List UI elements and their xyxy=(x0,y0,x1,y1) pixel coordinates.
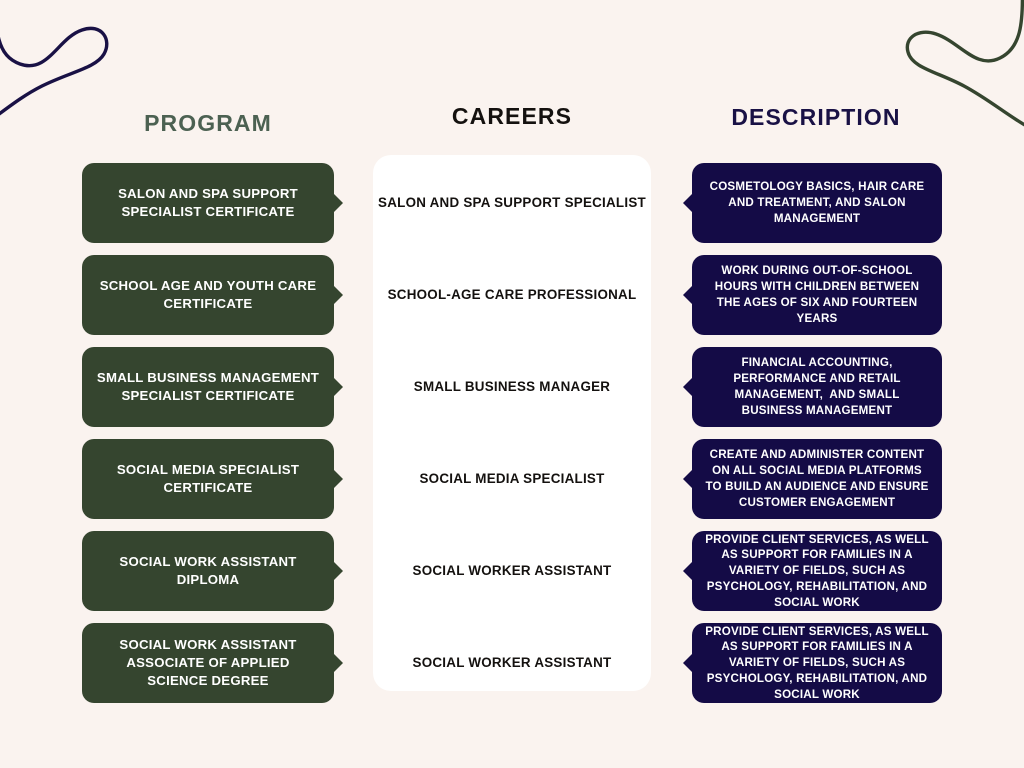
description-card[interactable]: WORK DURING OUT-OF-SCHOOL HOURS WITH CHI… xyxy=(692,255,942,335)
arrow-right-icon xyxy=(334,562,343,580)
career-label-cell: SOCIAL WORKER ASSISTANT xyxy=(376,531,648,611)
arrow-left-icon xyxy=(683,562,692,580)
arrow-right-icon xyxy=(334,194,343,212)
column-header-careers: CAREERS xyxy=(373,103,651,130)
description-card[interactable]: FINANCIAL ACCOUNTING, PERFORMANCE AND RE… xyxy=(692,347,942,427)
table-row: SOCIAL MEDIA SPECIALIST CERTIFICATE SOCI… xyxy=(0,439,1024,519)
arrow-left-icon xyxy=(683,286,692,304)
arrow-right-icon xyxy=(334,286,343,304)
description-card[interactable]: COSMETOLOGY BASICS, HAIR CARE AND TREATM… xyxy=(692,163,942,243)
description-card-label: WORK DURING OUT-OF-SCHOOL HOURS WITH CHI… xyxy=(704,263,930,326)
career-label: SOCIAL WORKER ASSISTANT xyxy=(413,654,612,672)
description-card-label: FINANCIAL ACCOUNTING, PERFORMANCE AND RE… xyxy=(704,355,930,418)
program-card[interactable]: SOCIAL WORK ASSISTANT DIPLOMA xyxy=(82,531,334,611)
description-card[interactable]: PROVIDE CLIENT SERVICES, AS WELL AS SUPP… xyxy=(692,623,942,703)
career-label-cell: SALON AND SPA SUPPORT SPECIALIST xyxy=(376,163,648,243)
description-card[interactable]: PROVIDE CLIENT SERVICES, AS WELL AS SUPP… xyxy=(692,531,942,611)
description-card-label: PROVIDE CLIENT SERVICES, AS WELL AS SUPP… xyxy=(704,624,930,703)
description-card-label: COSMETOLOGY BASICS, HAIR CARE AND TREATM… xyxy=(704,179,930,226)
program-card[interactable]: SALON AND SPA SUPPORT SPECIALIST CERTIFI… xyxy=(82,163,334,243)
program-card-label: SOCIAL WORK ASSISTANT DIPLOMA xyxy=(96,553,320,589)
column-headers: PROGRAM CAREERS DESCRIPTION xyxy=(0,0,1024,155)
program-card-label: SMALL BUSINESS MANAGEMENT SPECIALIST CER… xyxy=(96,369,320,405)
program-card-label: SOCIAL MEDIA SPECIALIST CERTIFICATE xyxy=(96,461,320,497)
career-label: SMALL BUSINESS MANAGER xyxy=(414,378,610,396)
table-row: SOCIAL WORK ASSISTANT DIPLOMA SOCIAL WOR… xyxy=(0,531,1024,611)
career-label-cell: SCHOOL-AGE CARE PROFESSIONAL xyxy=(376,255,648,335)
career-label-cell: SOCIAL MEDIA SPECIALIST xyxy=(376,439,648,519)
career-label: SOCIAL WORKER ASSISTANT xyxy=(413,562,612,580)
career-label: SOCIAL MEDIA SPECIALIST xyxy=(419,470,604,488)
description-card-label: CREATE AND ADMINISTER CONTENT ON ALL SOC… xyxy=(704,447,930,510)
column-header-description: DESCRIPTION xyxy=(690,104,942,131)
arrow-left-icon xyxy=(683,378,692,396)
description-card-label: PROVIDE CLIENT SERVICES, AS WELL AS SUPP… xyxy=(704,532,930,611)
career-label: SCHOOL-AGE CARE PROFESSIONAL xyxy=(388,286,637,304)
program-card[interactable]: SCHOOL AGE AND YOUTH CARE CERTIFICATE xyxy=(82,255,334,335)
arrow-right-icon xyxy=(334,378,343,396)
description-card[interactable]: CREATE AND ADMINISTER CONTENT ON ALL SOC… xyxy=(692,439,942,519)
program-card[interactable]: SOCIAL WORK ASSISTANT ASSOCIATE OF APPLI… xyxy=(82,623,334,703)
career-label-cell: SMALL BUSINESS MANAGER xyxy=(376,347,648,427)
program-card-label: SCHOOL AGE AND YOUTH CARE CERTIFICATE xyxy=(96,277,320,313)
table-row: SCHOOL AGE AND YOUTH CARE CERTIFICATE SC… xyxy=(0,255,1024,335)
arrow-left-icon xyxy=(683,470,692,488)
career-label-cell: SOCIAL WORKER ASSISTANT xyxy=(376,623,648,703)
table-row: SALON AND SPA SUPPORT SPECIALIST CERTIFI… xyxy=(0,163,1024,243)
arrow-right-icon xyxy=(334,470,343,488)
program-card-label: SALON AND SPA SUPPORT SPECIALIST CERTIFI… xyxy=(96,185,320,221)
column-header-program: PROGRAM xyxy=(82,110,334,137)
program-card[interactable]: SOCIAL MEDIA SPECIALIST CERTIFICATE xyxy=(82,439,334,519)
program-card[interactable]: SMALL BUSINESS MANAGEMENT SPECIALIST CER… xyxy=(82,347,334,427)
comparison-board: SALON AND SPA SUPPORT SPECIALIST CERTIFI… xyxy=(0,155,1024,715)
arrow-right-icon xyxy=(334,654,343,672)
career-label: SALON AND SPA SUPPORT SPECIALIST xyxy=(378,194,646,212)
program-card-label: SOCIAL WORK ASSISTANT ASSOCIATE OF APPLI… xyxy=(96,636,320,690)
table-row: SOCIAL WORK ASSISTANT ASSOCIATE OF APPLI… xyxy=(0,623,1024,703)
arrow-left-icon xyxy=(683,194,692,212)
arrow-left-icon xyxy=(683,654,692,672)
table-row: SMALL BUSINESS MANAGEMENT SPECIALIST CER… xyxy=(0,347,1024,427)
